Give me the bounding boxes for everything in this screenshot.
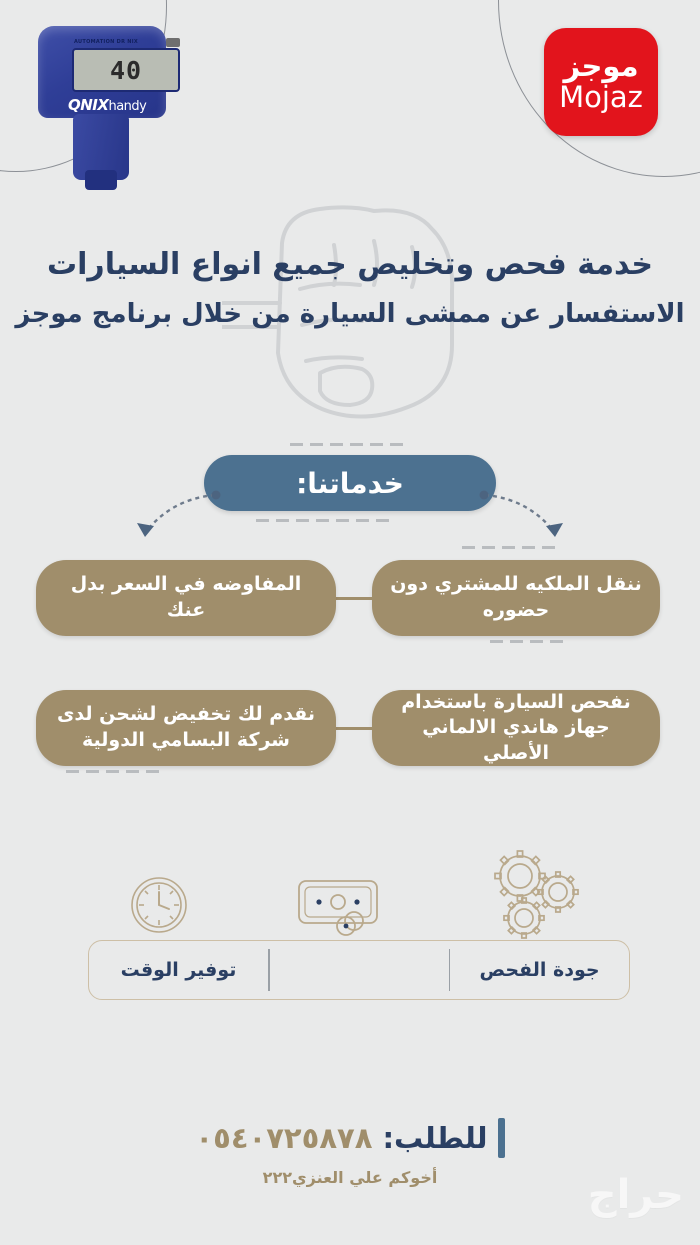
headline-line-2: الاستفسار عن ممشى السيارة من خلال برنامج… [0, 298, 700, 332]
service-card-transfer-ownership[interactable]: ننقل الملكيه للمشتري دون حضوره [372, 560, 660, 636]
accent-bar-mark [498, 1118, 505, 1158]
mojaz-logo: موجز Mojaz [544, 28, 658, 136]
service-card-text: نقدم لك تخفيض لشحن لدى شركة البسامي الدو… [36, 702, 336, 753]
curved-arrow-left-icon [115, 485, 225, 545]
service-card-inspection-device[interactable]: نفحص السيارة باستخدام جهاز هاندي الالمان… [372, 690, 660, 766]
gauge-model-text: handy [108, 99, 146, 114]
gauge-top-label: AUTOMATION DR NIX [74, 39, 138, 45]
gauge-brand-label: QNIXhandy [68, 96, 146, 114]
dashed-accent-above-badge [290, 443, 410, 446]
service-card-price-negotiation[interactable]: المفاوضه في السعر بدل عنك [36, 560, 336, 636]
headline-line-1: خدمة فحص وتخليص جميع انواع السيارات [0, 246, 700, 284]
feature-label: توفير الوقت [121, 959, 237, 981]
feature-cell-inspection-quality: جودة الفحص [450, 941, 629, 999]
feature-divider-2 [268, 949, 270, 991]
money-icon [296, 876, 388, 940]
paint-gauge-device-image: AUTOMATION DR NIX 40 QNIXhandy [16, 18, 188, 190]
service-card-text: المفاوضه في السعر بدل عنك [36, 572, 336, 623]
service-card-shipping-discount[interactable]: نقدم لك تخفيض لشحن لدى شركة البسامي الدو… [36, 690, 336, 766]
gauge-probe-tip [85, 170, 117, 190]
order-line: للطلب: ٠٥٤٠٧٢٥٨٧٨ [195, 1118, 504, 1158]
curved-arrow-right-icon [475, 485, 585, 545]
clock-icon [128, 874, 190, 936]
gauge-body: AUTOMATION DR NIX 40 QNIXhandy [38, 26, 166, 118]
logo-arabic-text: موجز [563, 52, 638, 81]
service-card-text: ننقل الملكيه للمشتري دون حضوره [372, 572, 660, 623]
gauge-knob [166, 38, 180, 47]
gauge-reading-value: 40 [110, 58, 142, 83]
card-connector-row-1 [336, 597, 374, 600]
feature-icons-row [70, 848, 630, 944]
service-card-text: نفحص السيارة باستخدام جهاز هاندي الالمان… [372, 690, 660, 767]
logo-latin-text: Mojaz [559, 83, 643, 112]
dashed-accent-card-2 [490, 640, 564, 643]
feature-label: جودة الفحص [479, 959, 599, 981]
gauge-brand-text: QNIX [68, 96, 108, 114]
haraj-watermark: حراج [524, 1175, 684, 1231]
feature-divider-1 [449, 949, 451, 991]
feature-cell-middle [270, 941, 449, 999]
card-connector-row-2 [336, 727, 374, 730]
dashed-accent-card-3 [66, 770, 162, 773]
page-title: خدمة فحص وتخليص جميع انواع السيارات الاس… [0, 246, 700, 331]
order-label: للطلب: [382, 1121, 487, 1155]
poster-canvas: AUTOMATION DR NIX 40 QNIXhandy موجز Moja… [0, 0, 700, 1245]
watermark-text: حراج [524, 1175, 684, 1215]
gauge-lcd-screen: 40 [72, 48, 180, 92]
phone-number[interactable]: ٠٥٤٠٧٢٥٨٧٨ [195, 1121, 372, 1155]
dashed-accent-below-badge [256, 519, 396, 522]
feature-cell-time-saving: توفير الوقت [89, 941, 268, 999]
gears-icon [490, 848, 584, 942]
services-badge: خدماتنا: [204, 455, 496, 511]
features-bar: جودة الفحص توفير الوقت [88, 940, 630, 1000]
dashed-accent-card-1 [462, 546, 558, 549]
services-badge-label: خدماتنا: [296, 467, 404, 500]
